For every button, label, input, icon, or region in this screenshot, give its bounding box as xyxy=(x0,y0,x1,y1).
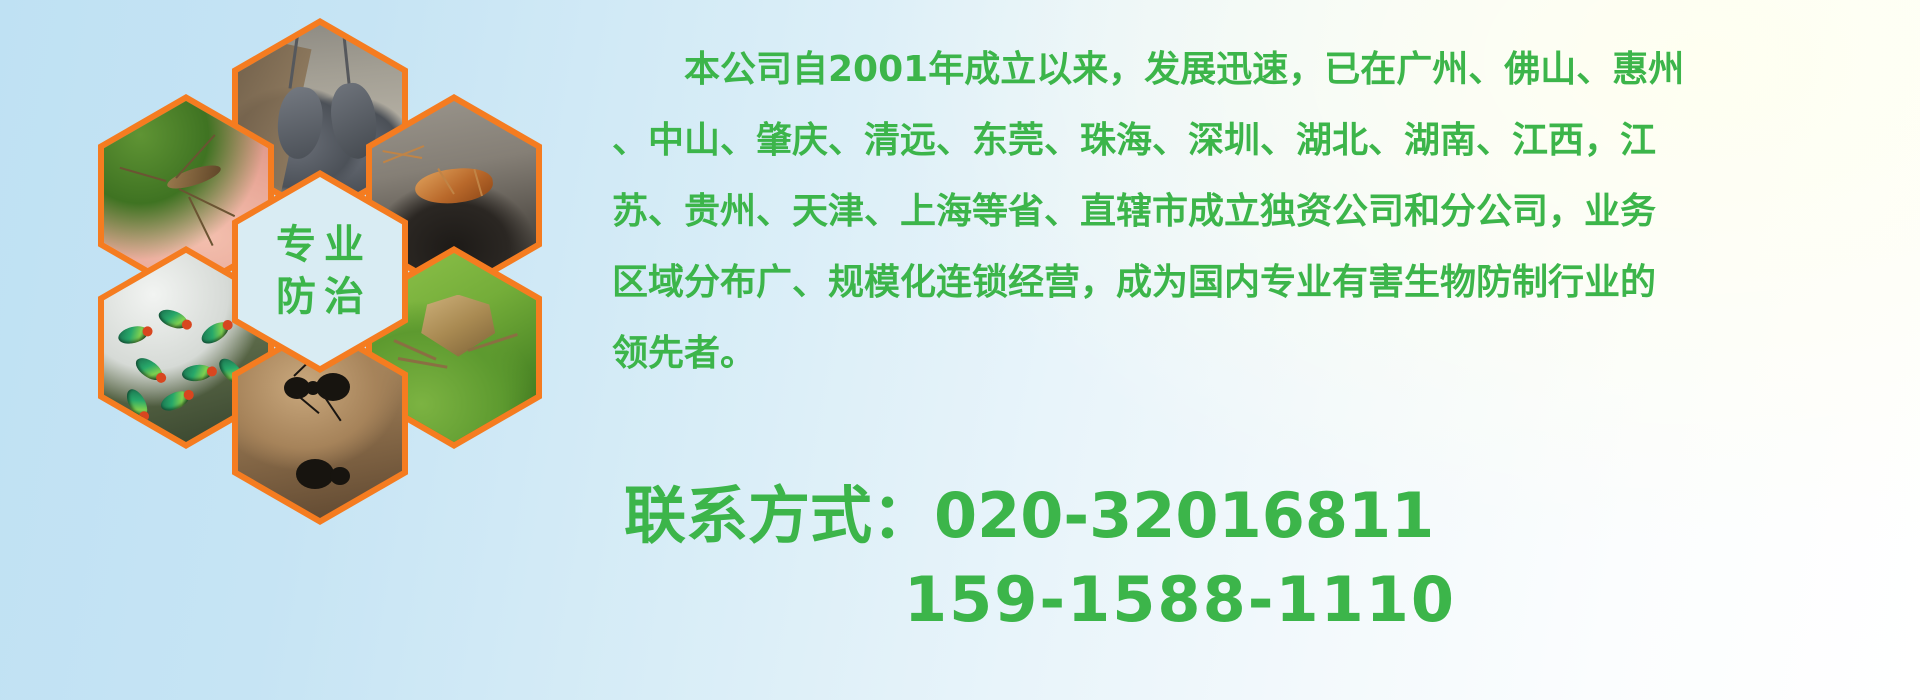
copy-column: 本公司自2001年成立以来，发展迅速，已在广州、佛山、惠州 、中山、肇庆、清远、… xyxy=(612,0,1920,700)
intro-line-5: 领先者。 xyxy=(612,318,1912,389)
slogan-panel: 专业 防治 xyxy=(238,177,402,366)
slogan-line-1: 专业 xyxy=(268,220,372,271)
intro-line-1: 本公司自2001年成立以来，发展迅速，已在广州、佛山、惠州 xyxy=(612,34,1912,105)
intro-line-4: 区域分布广、规模化连锁经营，成为国内专业有害生物防制行业的 xyxy=(612,247,1912,318)
intro-line-3: 苏、贵州、天津、上海等省、直辖市成立独资公司和分公司，业务 xyxy=(612,176,1912,247)
contact-phone-primary[interactable]: 联系方式：020-32016811 xyxy=(612,474,1912,558)
honeycomb-gallery: 专业 防治 xyxy=(80,0,600,580)
intro-line-2: 、中山、肇庆、清远、东莞、珠海、深圳、湖北、湖南、江西，江 xyxy=(612,105,1912,176)
contact-phone-secondary[interactable]: 159-1588-1110 xyxy=(612,558,1912,642)
slogan-line-2: 防治 xyxy=(268,272,372,323)
company-intro-paragraph: 本公司自2001年成立以来，发展迅速，已在广州、佛山、惠州 、中山、肇庆、清远、… xyxy=(612,34,1912,389)
contact-block: 联系方式：020-32016811 159-1588-1110 xyxy=(612,474,1912,642)
promotional-banner: 专业 防治 本公司自2001年成立以来，发展迅速，已在广州、佛山、惠州 、中山、… xyxy=(0,0,1920,700)
